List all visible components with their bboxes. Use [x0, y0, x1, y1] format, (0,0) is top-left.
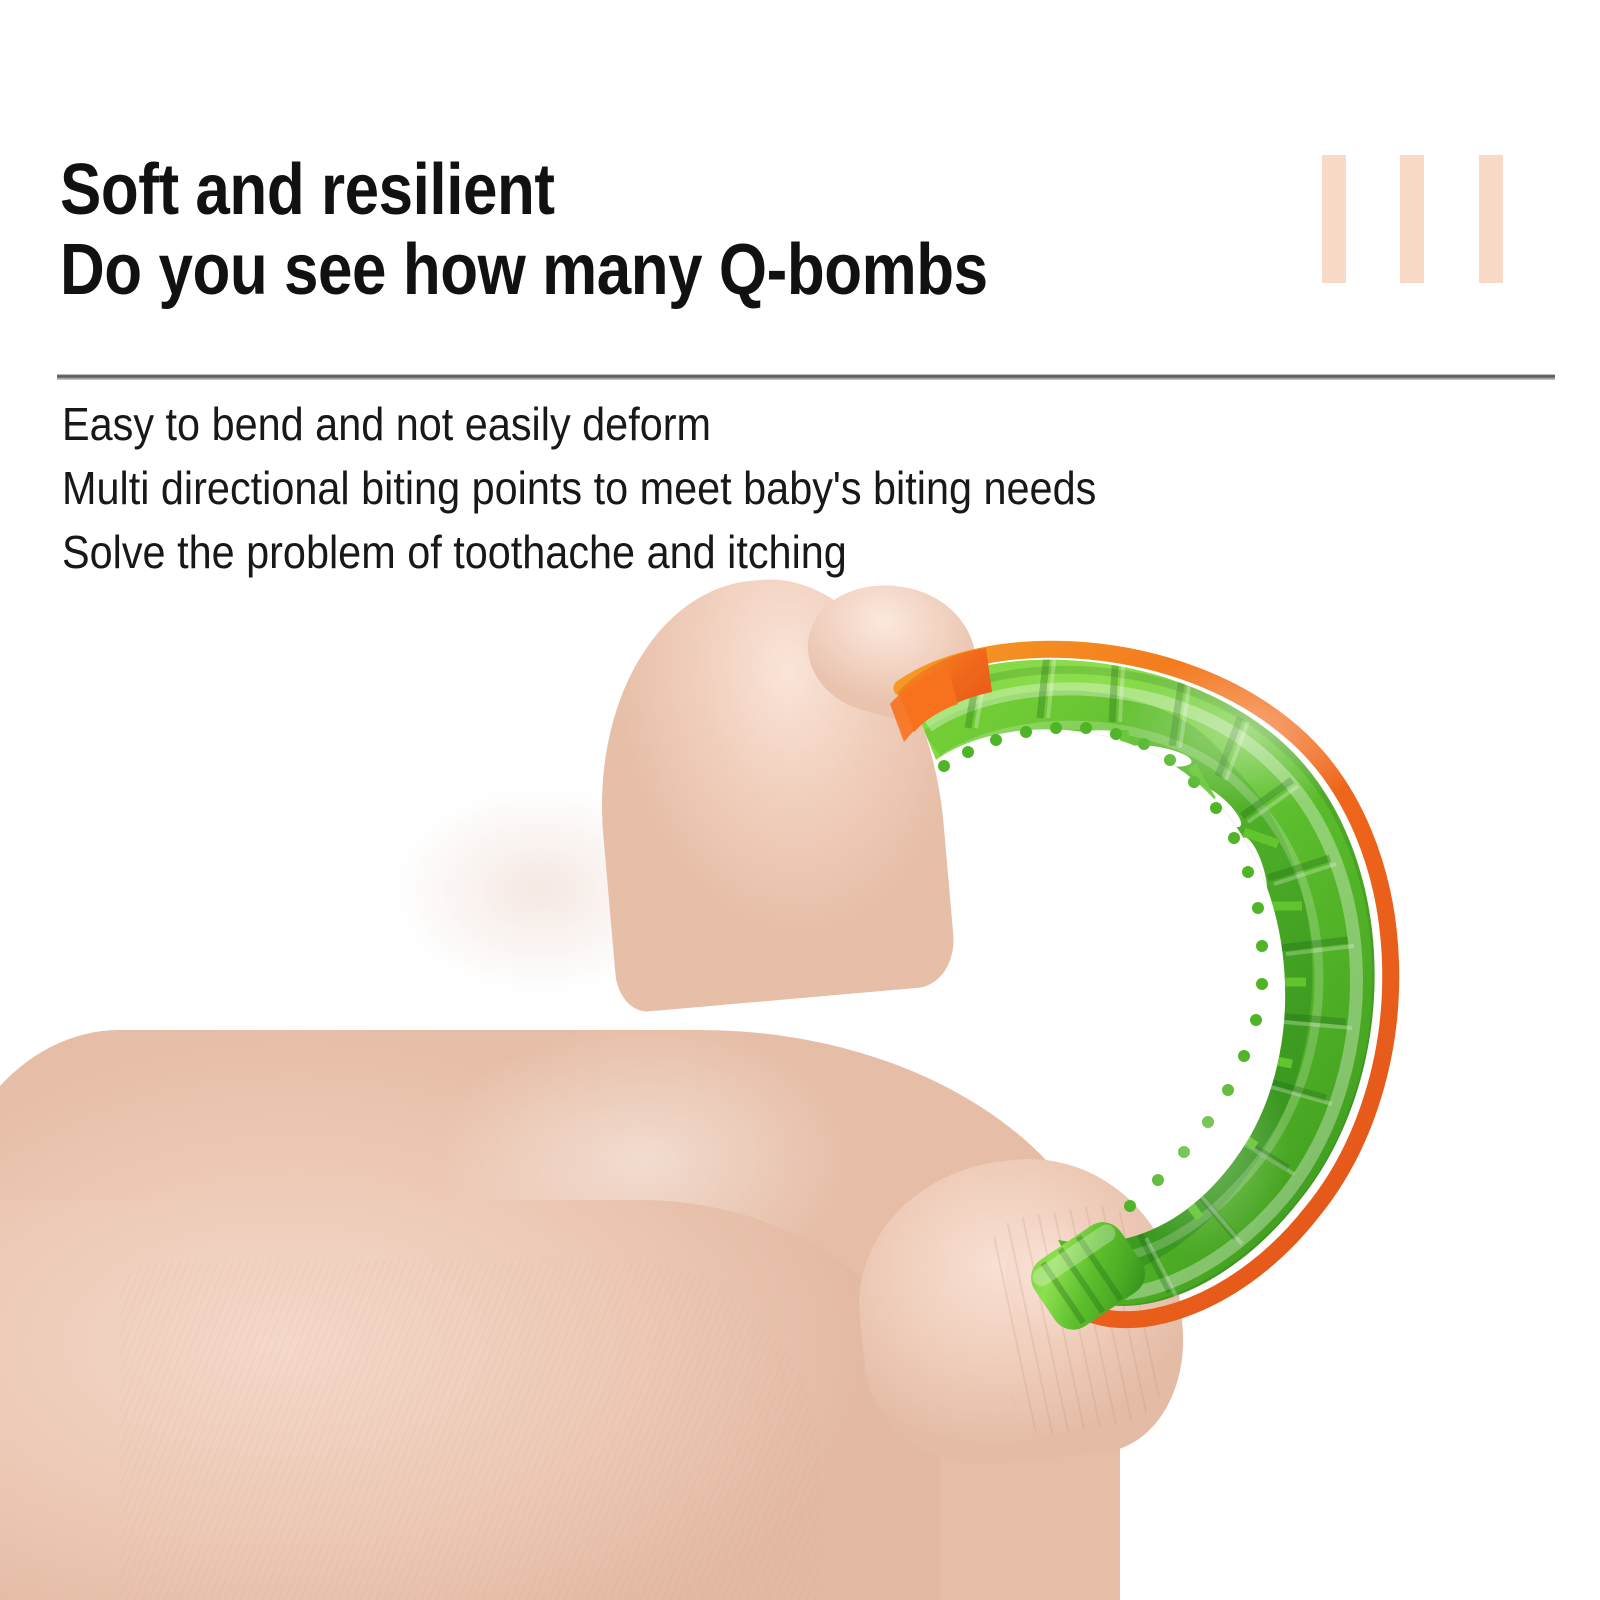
headline-line-1: Soft and resilient — [60, 150, 1195, 230]
decorative-bar-3 — [1479, 155, 1503, 283]
teether-inner-channel — [936, 713, 1289, 1260]
headline-block: Soft and resilient Do you see how many Q… — [60, 150, 1380, 310]
headline-line-2: Do you see how many Q-bombs — [60, 230, 1195, 310]
product-feature-image: Soft and resilient Do you see how many Q… — [0, 0, 1600, 1600]
teether-arc — [840, 600, 1460, 1340]
teether-toy — [840, 600, 1460, 1340]
product-photo — [0, 560, 1600, 1600]
palm-skin-texture — [120, 1260, 820, 1600]
decorative-bar-2 — [1400, 155, 1424, 283]
feature-item-2: Multi directional biting points to meet … — [62, 456, 1250, 520]
header-divider — [57, 374, 1555, 380]
feature-item-1: Easy to bend and not easily deform — [62, 392, 1250, 456]
feature-list: Easy to bend and not easily deform Multi… — [62, 392, 1382, 584]
